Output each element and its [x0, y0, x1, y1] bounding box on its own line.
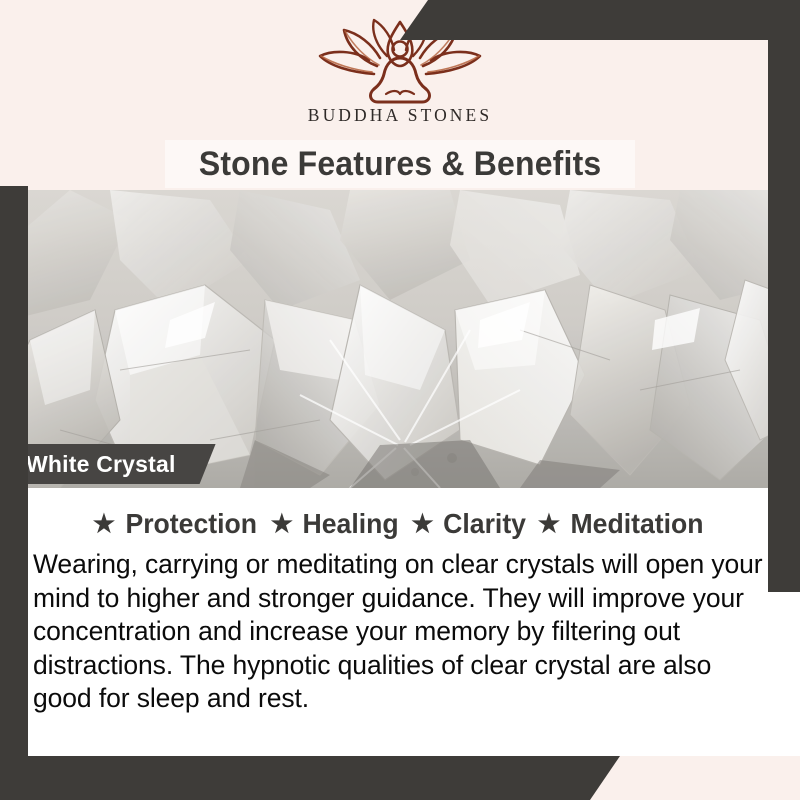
title-band: Stone Features & Benefits	[165, 140, 635, 188]
stone-photo: White Crystal	[0, 190, 800, 488]
frame-top-right-accent	[400, 0, 800, 40]
page-title: Stone Features & Benefits	[199, 145, 602, 184]
star-icon: ★	[538, 509, 560, 539]
star-icon: ★	[93, 509, 115, 539]
benefit-label: Healing	[303, 508, 399, 540]
benefit-label: Clarity	[443, 508, 526, 540]
stone-name-text: White Crystal	[26, 451, 176, 478]
benefit-item: ★ Clarity	[401, 508, 528, 540]
benefits-row: ★ Protection ★ Healing ★ Clarity ★ Medit…	[0, 488, 800, 542]
frame-left-edge	[0, 186, 28, 800]
benefit-label: Protection	[126, 508, 258, 540]
star-icon: ★	[411, 509, 433, 539]
benefit-item: ★ Protection	[93, 508, 261, 540]
brand-name: BUDDHA STONES	[270, 105, 530, 126]
benefit-label: Meditation	[571, 508, 704, 540]
stone-name-badge: White Crystal	[0, 444, 216, 484]
frame-right-edge	[768, 0, 800, 592]
poster-card: BUDDHA STONES Stone Features & Benefits	[0, 0, 800, 800]
frame-bottom-left-accent	[0, 756, 620, 800]
poster-inner: BUDDHA STONES Stone Features & Benefits	[28, 0, 768, 756]
star-icon: ★	[271, 509, 293, 539]
description-text: Wearing, carrying or meditating on clear…	[33, 548, 770, 716]
crystal-cluster-image	[0, 190, 800, 488]
content-section: ★ Protection ★ Healing ★ Clarity ★ Medit…	[0, 488, 800, 756]
benefit-item: ★ Meditation	[528, 508, 707, 540]
benefit-item: ★ Healing	[261, 508, 402, 540]
